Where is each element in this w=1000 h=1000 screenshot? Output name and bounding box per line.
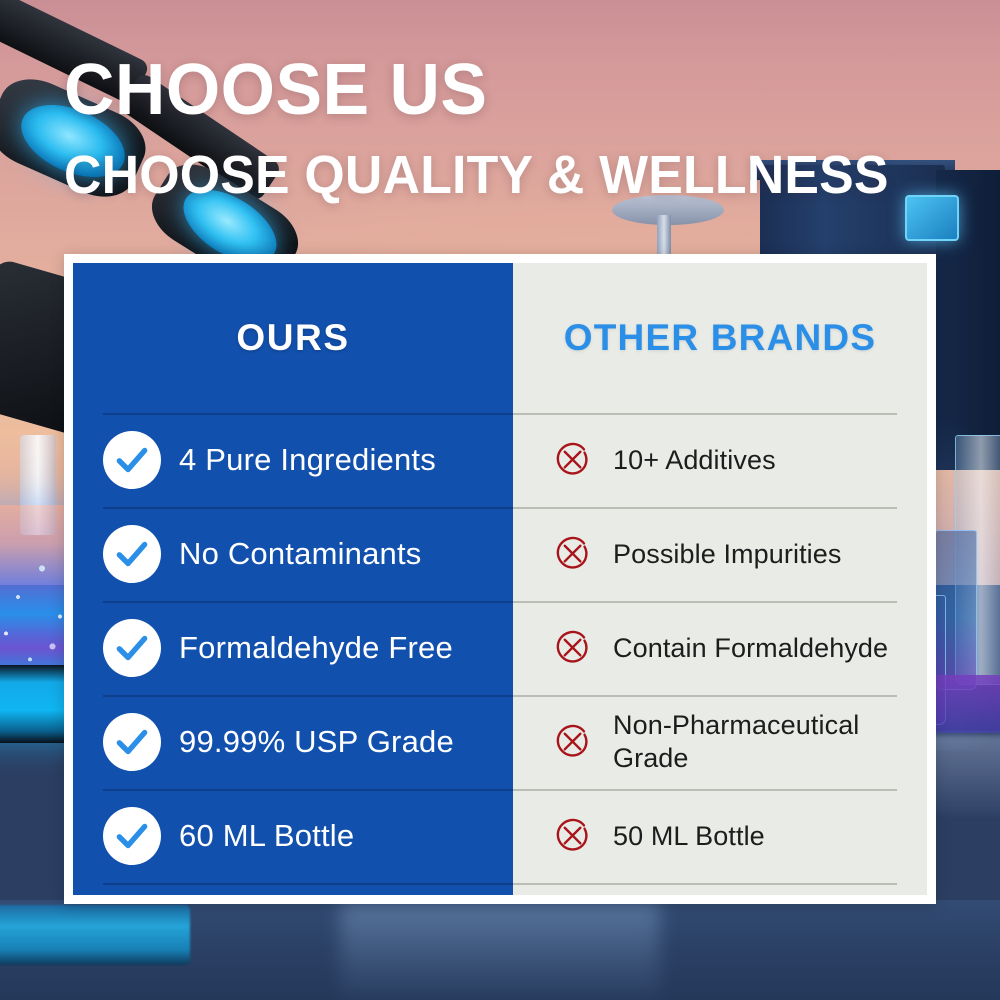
column-ours-header: OURS <box>73 263 513 413</box>
ours-row-list: 4 Pure Ingredients No Contaminants <box>73 413 513 883</box>
table-row: 4 Pure Ingredients <box>73 413 513 507</box>
table-cell-ours: Formaldehyde Free <box>179 631 453 666</box>
floor-reflection <box>340 900 660 1000</box>
column-other-title: OTHER BRANDS <box>564 317 876 359</box>
table-row: 99.99% USP Grade <box>73 695 513 789</box>
column-ours: OURS 4 Pure Ingredients <box>73 263 513 895</box>
check-icon <box>103 807 161 865</box>
table-cell-other: Contain Formaldehyde <box>613 632 888 664</box>
table-row: 10+ Additives <box>513 413 927 507</box>
table-row: Possible Impurities <box>513 507 927 601</box>
page-title: CHOOSE US <box>64 54 487 126</box>
cross-circle-icon <box>551 814 595 858</box>
column-ours-title: OURS <box>236 317 349 359</box>
cross-circle-icon <box>551 626 595 670</box>
check-icon <box>103 713 161 771</box>
row-divider <box>513 883 897 885</box>
lab-cabinet-display-panel <box>905 195 959 241</box>
comparison-table: OURS 4 Pure Ingredients <box>64 254 936 904</box>
infographic-canvas: CHOOSE US CHOOSE QUALITY & WELLNESS OURS <box>0 0 1000 1000</box>
column-other-brands: OTHER BRANDS 10+ Additives <box>513 263 927 895</box>
table-cell-other: Possible Impurities <box>613 538 842 570</box>
table-row: No Contaminants <box>73 507 513 601</box>
cross-circle-icon <box>551 438 595 482</box>
table-row: 50 ML Bottle <box>513 789 927 883</box>
table-row: Non-Pharmaceutical Grade <box>513 695 927 789</box>
table-row: Formaldehyde Free <box>73 601 513 695</box>
table-row: 60 ML Bottle <box>73 789 513 883</box>
table-cell-ours: 99.99% USP Grade <box>179 725 454 760</box>
table-row: Contain Formaldehyde <box>513 601 927 695</box>
check-icon <box>103 525 161 583</box>
table-cell-ours: No Contaminants <box>179 537 422 572</box>
check-icon <box>103 431 161 489</box>
hotplate-secondary <box>0 905 190 965</box>
table-cell-other: Non-Pharmaceutical Grade <box>613 709 903 775</box>
table-cell-ours: 4 Pure Ingredients <box>179 443 436 478</box>
table-cell-ours: 60 ML Bottle <box>179 819 354 854</box>
check-icon <box>103 619 161 677</box>
column-other-header: OTHER BRANDS <box>513 263 927 413</box>
table-cell-other: 10+ Additives <box>613 444 776 476</box>
cross-circle-icon <box>551 720 595 764</box>
cross-circle-icon <box>551 532 595 576</box>
table-cell-other: 50 ML Bottle <box>613 820 765 852</box>
other-row-list: 10+ Additives Possible Impurities <box>513 413 927 883</box>
page-subtitle: CHOOSE QUALITY & WELLNESS <box>64 148 889 202</box>
row-divider <box>103 883 513 885</box>
